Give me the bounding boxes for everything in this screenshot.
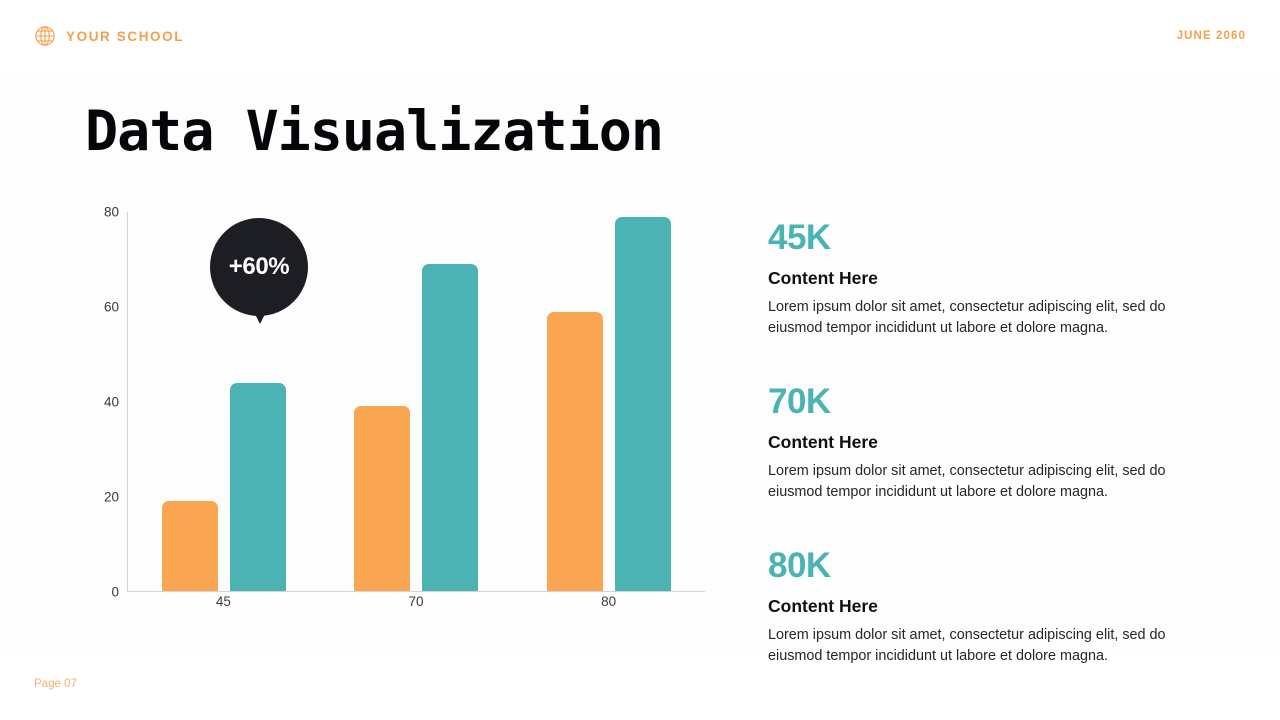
callout-circle: +60% <box>210 218 308 316</box>
header-date: JUNE 2060 <box>1177 30 1246 42</box>
bar[interactable] <box>230 383 286 591</box>
callout-label: +60% <box>229 253 289 281</box>
bar[interactable] <box>547 312 603 592</box>
stat-body-text: Lorem ipsum dolor sit amet, consectetur … <box>768 625 1200 668</box>
y-axis-tick: 40 <box>104 395 119 410</box>
stat-block: 70KContent HereLorem ipsum dolor sit ame… <box>768 384 1220 504</box>
y-axis-labels: 80 60 40 20 0 <box>85 212 119 592</box>
y-axis-tick: 60 <box>104 300 119 315</box>
bar-group <box>547 212 671 591</box>
slide: YOUR SCHOOL JUNE 2060 Data Visualization… <box>0 0 1280 720</box>
stat-value: 70K <box>768 384 1220 421</box>
stat-body-text: Lorem ipsum dolor sit amet, consectetur … <box>768 461 1200 504</box>
brand-name: YOUR SCHOOL <box>66 29 184 44</box>
stat-value: 80K <box>768 548 1220 585</box>
x-axis-tick: 80 <box>547 594 671 609</box>
globe-icon <box>34 25 56 47</box>
x-axis-tick: 70 <box>354 594 478 609</box>
callout-badge: +60% <box>210 218 308 316</box>
stat-heading: Content Here <box>768 432 1220 453</box>
page-title: Data Visualization <box>85 99 663 163</box>
y-axis-tick: 20 <box>104 490 119 505</box>
bar[interactable] <box>615 217 671 591</box>
stat-heading: Content Here <box>768 596 1220 617</box>
bar-group <box>354 212 478 591</box>
page-number: Page 07 <box>34 678 77 690</box>
stat-body-text: Lorem ipsum dolor sit amet, consectetur … <box>768 297 1200 340</box>
stats-column: 45KContent HereLorem ipsum dolor sit ame… <box>768 220 1220 668</box>
bar[interactable] <box>162 501 218 591</box>
stat-heading: Content Here <box>768 268 1220 289</box>
stat-block: 80KContent HereLorem ipsum dolor sit ame… <box>768 548 1220 668</box>
stat-block: 45KContent HereLorem ipsum dolor sit ame… <box>768 220 1220 340</box>
x-axis-tick: 45 <box>161 594 285 609</box>
slide-body: Data Visualization 80 60 40 20 0 45 70 8… <box>0 72 1280 657</box>
y-axis-tick: 0 <box>111 585 119 600</box>
bar-chart: 80 60 40 20 0 45 70 80 <box>85 212 705 632</box>
bar[interactable] <box>354 406 410 591</box>
bar[interactable] <box>422 264 478 591</box>
y-axis-tick: 80 <box>104 205 119 220</box>
x-axis-labels: 45 70 80 <box>127 594 705 609</box>
brand: YOUR SCHOOL <box>34 25 184 47</box>
callout-pointer-icon <box>251 306 269 324</box>
stat-value: 45K <box>768 220 1220 257</box>
slide-header: YOUR SCHOOL JUNE 2060 <box>0 0 1280 72</box>
